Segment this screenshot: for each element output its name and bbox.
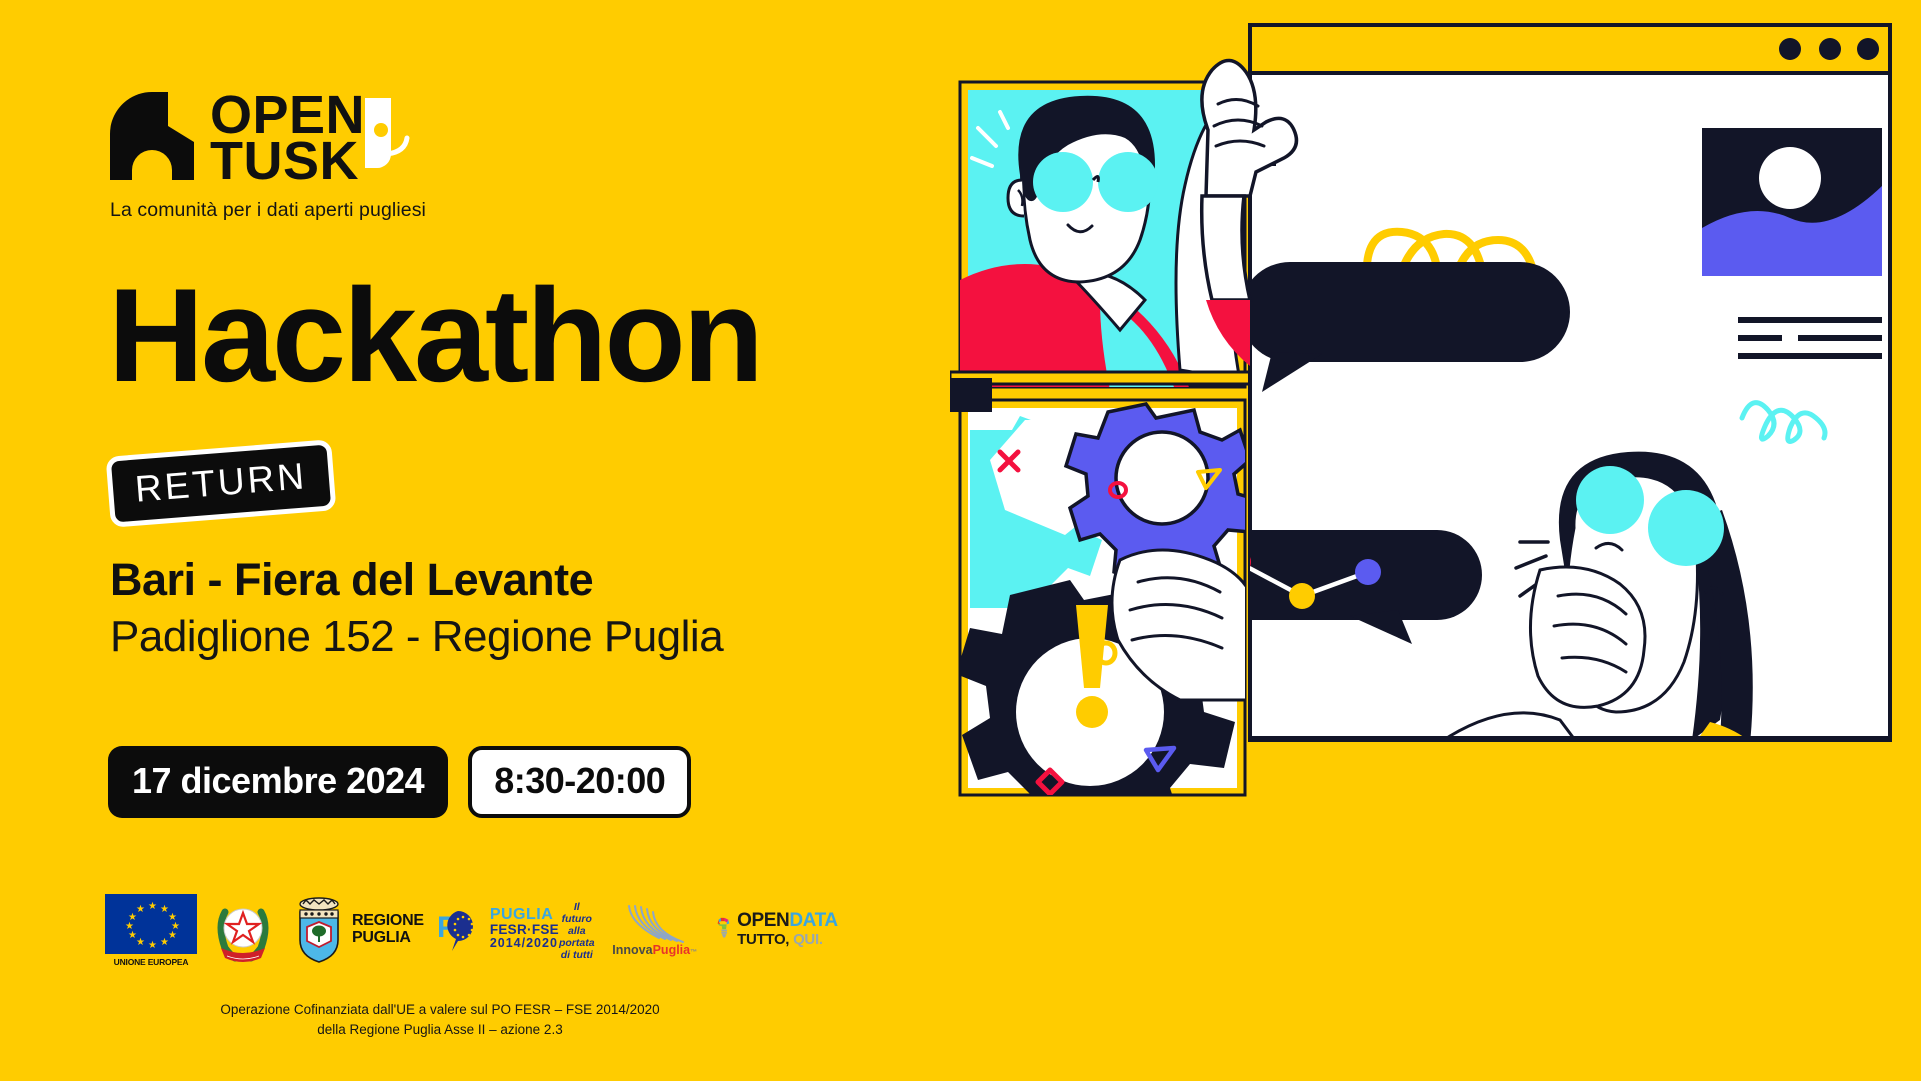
regione-puglia-wordmark: REGIONE PUGLIA [352, 913, 424, 947]
italy-emblem-icon [211, 896, 275, 964]
opendata-data-label: DATA [789, 910, 837, 931]
sponsor-logo-strip: ★ ★ ★ ★ ★ ★ ★ ★ ★ ★ ★ ★ UNIONE EUROPEA [105, 895, 838, 965]
regione-puglia-crest-icon [293, 896, 345, 964]
schedule-pills: 17 dicembre 2024 8:30-20:00 [108, 746, 691, 818]
event-date-badge: 17 dicembre 2024 [108, 746, 448, 818]
innova-tm: ™ [690, 949, 697, 956]
eu-flag-icon: ★ ★ ★ ★ ★ ★ ★ ★ ★ ★ ★ ★ [105, 894, 197, 954]
innova-label: Innova [612, 943, 652, 957]
puglia-label-innova: Puglia [653, 943, 691, 957]
opendata-open-label: OPEN [737, 910, 789, 931]
puglia-label: PUGLIA [352, 930, 424, 947]
po-slogan-label: Il futuro alla portata di tutti [559, 901, 595, 961]
colorful-lightbulb-icon [713, 901, 734, 959]
page-title: Hackathon [108, 270, 761, 403]
regione-label: REGIONE [352, 913, 424, 930]
brand-tagline: La comunità per i dati aperti pugliesi [110, 199, 426, 222]
opendata-tutto-label: TUTTO, [737, 931, 789, 948]
window-dots [1779, 38, 1879, 60]
poster-root: OPEN TUSK La comunità per i dati aperti … [0, 0, 1921, 1081]
open-data-collaboration-illustration [950, 0, 1921, 1081]
venue-detail: Padiglione 152 - Regione Puglia [110, 612, 723, 662]
event-time-badge: 8:30-20:00 [468, 746, 691, 818]
bottom-left-panel [956, 400, 1258, 845]
open-data-tutto-qui-logo: OPENDATA TUTTO, QUI. [713, 901, 838, 959]
po-puglia-fesr-fse-logo: P PUGLIA FESR·FSE 2014/2020 [454, 899, 579, 961]
tusk-icon [361, 94, 411, 182]
funding-note-line-1: Operazione Cofinanziata dall'UE a valere… [0, 1000, 880, 1020]
repubblica-italiana-emblem [211, 896, 275, 964]
venue-name: Bari - Fiera del Levante [110, 554, 593, 606]
elephant-icon [110, 92, 196, 180]
opendata-qui-label: QUI. [793, 931, 823, 948]
image-placeholder-card [1702, 128, 1882, 276]
european-union-logo: ★ ★ ★ ★ ★ ★ ★ ★ ★ ★ ★ ★ UNIONE EUROPEA [105, 894, 197, 967]
funding-note-line-2: della Regione Puglia Asse II – azione 2.… [0, 1020, 880, 1040]
po-puglia-label: PUGLIA [490, 907, 559, 923]
innovapuglia-swoosh-icon [619, 904, 691, 946]
po-speech-mark-icon: P [438, 907, 486, 953]
eu-logo-caption: UNIONE EUROPEA [114, 957, 189, 967]
return-badge: RETURN [106, 439, 337, 528]
logo-text-tusk: TUSK [210, 138, 359, 184]
po-fesr-fse-label: FESR·FSE [490, 923, 559, 937]
illustration-svg [950, 0, 1921, 1081]
brand-logo-block: OPEN TUSK La comunità per i dati aperti … [110, 92, 426, 222]
funding-note: Operazione Cofinanziata dall'UE a valere… [0, 1000, 880, 1039]
innovapuglia-logo: InnovaPuglia™ [615, 904, 695, 957]
left-content-column: OPEN TUSK La comunità per i dati aperti … [0, 0, 950, 1081]
po-years-label: 2014/2020 [490, 937, 559, 950]
